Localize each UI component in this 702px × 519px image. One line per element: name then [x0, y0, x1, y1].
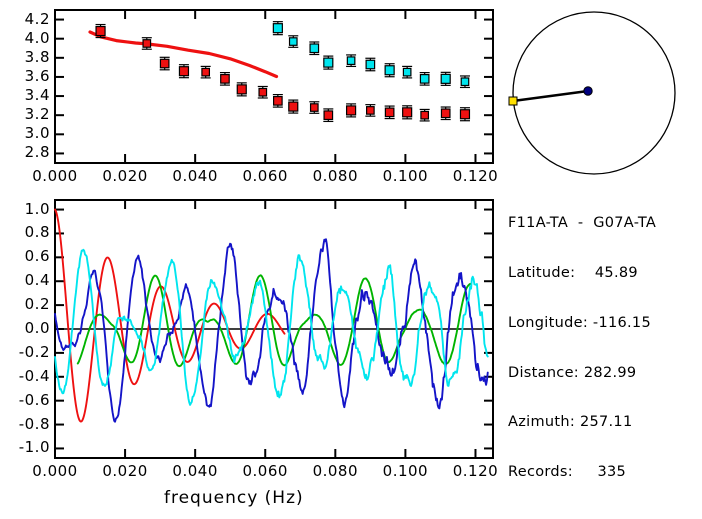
top-ytick-7: 4.2 [4, 12, 50, 27]
data-point-group-velocity-red [347, 106, 356, 115]
bot-xtick-2: 0.040 [159, 464, 231, 479]
distance-row: Distance: 282.99 [508, 365, 656, 382]
data-point-group-velocity-red [237, 85, 246, 94]
data-point-phase-velocity-cyan [290, 38, 298, 46]
bot-ytick-3: -0.4 [0, 369, 50, 384]
station-pair-info: F11A-TA - G07A-TA Latitude: 45.89 Longit… [508, 182, 656, 514]
bot-xtick-1: 0.020 [89, 464, 161, 479]
data-point-phase-velocity-cyan [310, 44, 319, 53]
top-xtick-3: 0.060 [229, 169, 301, 184]
data-point-phase-velocity-cyan [403, 68, 411, 76]
data-point-group-velocity-red [160, 59, 169, 68]
top-xtick-1: 0.020 [89, 169, 161, 184]
figure-root: 2.83.03.23.43.63.84.04.20.0000.0200.0400… [0, 0, 702, 519]
bot-ytick-10: 1.0 [0, 202, 50, 217]
data-point-phase-velocity-cyan [420, 75, 429, 84]
longitude-row: Longitude: -116.15 [508, 315, 656, 332]
bot-ytick-5: 0.0 [0, 321, 50, 336]
data-point-group-velocity-red [367, 107, 375, 115]
data-point-group-velocity-red [403, 108, 412, 117]
top-ytick-2: 3.2 [4, 107, 50, 122]
data-point-group-velocity-red [179, 67, 188, 76]
data-point-phase-velocity-cyan [441, 74, 450, 83]
top-ytick-1: 3.0 [4, 126, 50, 141]
bot-ytick-4: -0.2 [0, 345, 50, 360]
top-ytick-5: 3.8 [4, 50, 50, 65]
great-circle-map [500, 0, 700, 180]
bot-ytick-8: 0.6 [0, 249, 50, 264]
bot-xtick-4: 0.080 [299, 464, 371, 479]
top-ytick-4: 3.6 [4, 69, 50, 84]
data-point-phase-velocity-cyan [366, 60, 375, 69]
great-circle-path [513, 91, 588, 101]
station-pair-title: F11A-TA - G07A-TA [508, 215, 656, 232]
data-point-group-velocity-red [143, 40, 151, 48]
records-row: Records: 335 [508, 464, 656, 481]
data-point-group-velocity-red [460, 110, 469, 119]
bot-xtick-5: 0.100 [369, 464, 441, 479]
bot-ytick-1: -0.8 [0, 417, 50, 432]
data-point-group-velocity-red [259, 88, 267, 96]
top-xtick-0: 0.000 [19, 169, 91, 184]
data-point-group-velocity-red [274, 97, 283, 106]
data-point-group-velocity-red [311, 104, 319, 112]
data-point-group-velocity-red [385, 108, 394, 117]
data-point-phase-velocity-cyan [273, 24, 282, 33]
station-marker-yellow [509, 97, 517, 105]
data-point-group-velocity-red [221, 75, 230, 84]
data-point-phase-velocity-cyan [461, 78, 469, 86]
bot-ytick-6: 0.2 [0, 297, 50, 312]
data-point-group-velocity-red [441, 109, 450, 118]
top-xtick-2: 0.040 [159, 169, 231, 184]
top-ytick-3: 3.4 [4, 88, 50, 103]
data-point-group-velocity-red [202, 68, 210, 76]
bot-ytick-9: 0.8 [0, 225, 50, 240]
map-circle-outline [513, 12, 675, 174]
station-marker-navy [584, 87, 592, 95]
azimuth-row: Azimuth: 257.11 [508, 414, 656, 431]
bot-xtick-3: 0.060 [229, 464, 301, 479]
data-point-phase-velocity-cyan [324, 58, 333, 67]
top-ytick-0: 2.8 [4, 145, 50, 160]
trace-cyan [55, 250, 488, 405]
data-point-group-velocity-red [324, 111, 333, 120]
data-point-phase-velocity-cyan [347, 57, 355, 65]
data-point-group-velocity-red [421, 111, 429, 119]
top-ytick-6: 4.0 [4, 31, 50, 46]
top-xtick-4: 0.080 [299, 169, 371, 184]
trace-blue [55, 239, 488, 421]
bot-ytick-2: -0.6 [0, 393, 50, 408]
latitude-row: Latitude: 45.89 [508, 265, 656, 282]
bot-xtick-0: 0.000 [19, 464, 91, 479]
data-point-group-velocity-red [96, 27, 105, 36]
bot-ytick-0: -1.0 [0, 440, 50, 455]
top-xtick-5: 0.100 [369, 169, 441, 184]
data-point-group-velocity-red [289, 102, 298, 111]
bot-xtick-6: 0.120 [439, 464, 511, 479]
top-xtick-6: 0.120 [439, 169, 511, 184]
bot-ytick-7: 0.4 [0, 273, 50, 288]
data-point-phase-velocity-cyan [385, 66, 394, 75]
x-axis-title: frequency (Hz) [164, 488, 384, 508]
